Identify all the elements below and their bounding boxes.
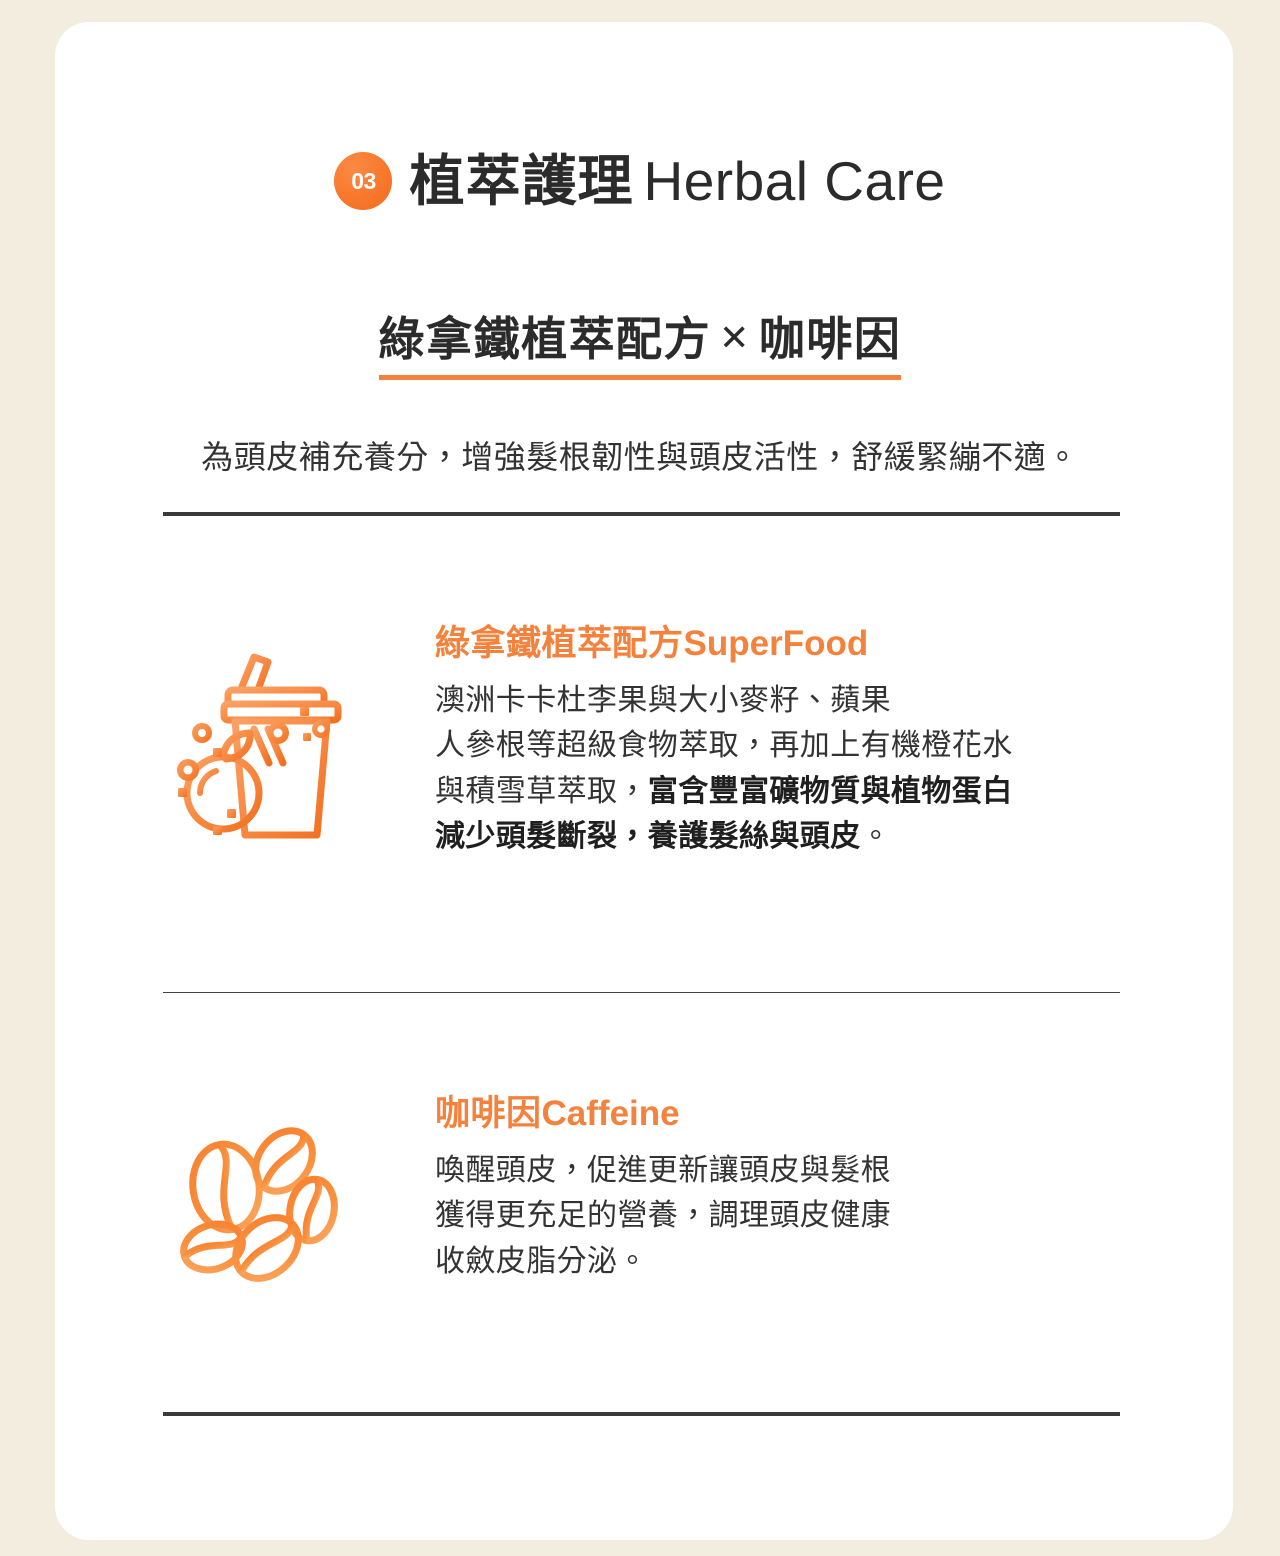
feature-block-superfood: 綠拿鐵植萃配方SuperFood 澳洲卡卡杜李果與大小麥籽、蘋果 人參根等超級食… (163, 625, 1133, 860)
content-inner: 03 植萃護理Herbal Care 綠拿鐵植萃配方✕咖啡因 為頭皮補充養分，增… (0, 0, 1280, 1556)
feature-title-cjk: 咖啡因 (435, 1094, 542, 1133)
feature-body-superfood: 綠拿鐵植萃配方SuperFood 澳洲卡卡杜李果與大小麥籽、蘋果 人參根等超級食… (363, 625, 1133, 860)
feature-title-superfood: 綠拿鐵植萃配方SuperFood (435, 625, 1133, 664)
page-title: 植萃護理Herbal Care (409, 154, 945, 209)
feature-line-emphasis: 富含豐富礦物質與植物蛋白 (648, 775, 1013, 808)
subtitle-left: 綠拿鐵植萃配方 (379, 313, 712, 365)
feature-text-superfood: 澳洲卡卡杜李果與大小麥籽、蘋果 人參根等超級食物萃取，再加上有機橙花水 與積雪草… (435, 678, 1133, 860)
feature-line: 喚醒頭皮，促進更新讓頭皮與髮根 (435, 1148, 1133, 1194)
divider-middle (163, 992, 1120, 993)
coffee-beans-icon (163, 1095, 363, 1287)
page-title-cjk: 植萃護理 (409, 150, 633, 212)
feature-line: 減少頭髮斷裂，養護髮絲與頭皮。 (435, 814, 1133, 860)
subtitle-wrap: 綠拿鐵植萃配方✕咖啡因 (0, 313, 1280, 380)
feature-block-caffeine: 咖啡因Caffeine 喚醒頭皮，促進更新讓頭皮與髮根 獲得更充足的營養，調理頭… (163, 1095, 1133, 1287)
feature-title-latin: Caffeine (542, 1094, 680, 1133)
lead-description: 為頭皮補充養分，增強髮根韌性與頭皮活性，舒緩緊繃不適。 (0, 432, 1280, 478)
subtitle-right: 咖啡因 (759, 313, 902, 365)
feature-line-emphasis: 減少頭髮斷裂，養護髮絲與頭皮 (435, 820, 861, 853)
feature-title-latin: SuperFood (684, 624, 869, 663)
section-number-badge: 03 (334, 152, 392, 210)
feature-body-caffeine: 咖啡因Caffeine 喚醒頭皮，促進更新讓頭皮與髮根 獲得更充足的營養，調理頭… (363, 1095, 1133, 1284)
feature-line: 收斂皮脂分泌。 (435, 1239, 1133, 1285)
feature-line: 與積雪草萃取，富含豐富礦物質與植物蛋白 (435, 769, 1133, 815)
feature-title-cjk: 綠拿鐵植萃配方 (435, 624, 684, 663)
feature-line: 人參根等超級食物萃取，再加上有機橙花水 (435, 723, 1133, 769)
feature-text-caffeine: 喚醒頭皮，促進更新讓頭皮與髮根 獲得更充足的營養，調理頭皮健康 收斂皮脂分泌。 (435, 1148, 1133, 1285)
feature-line-tail: 。 (861, 820, 891, 853)
feature-line: 獲得更充足的營養，調理頭皮健康 (435, 1193, 1133, 1239)
cross-icon: ✕ (711, 317, 759, 358)
smoothie-cup-orange-icon (163, 625, 363, 841)
section-header: 03 植萃護理Herbal Care (0, 152, 1280, 210)
page-root: 03 植萃護理Herbal Care 綠拿鐵植萃配方✕咖啡因 為頭皮補充養分，增… (0, 0, 1280, 1556)
divider-top (163, 512, 1120, 516)
feature-line-plain: 與積雪草萃取， (435, 775, 648, 808)
subtitle-underlined: 綠拿鐵植萃配方✕咖啡因 (379, 313, 902, 380)
feature-title-caffeine: 咖啡因Caffeine (435, 1095, 1133, 1134)
feature-line: 澳洲卡卡杜李果與大小麥籽、蘋果 (435, 678, 1133, 724)
page-title-latin: Herbal Care (644, 150, 946, 212)
divider-bottom (163, 1412, 1120, 1416)
